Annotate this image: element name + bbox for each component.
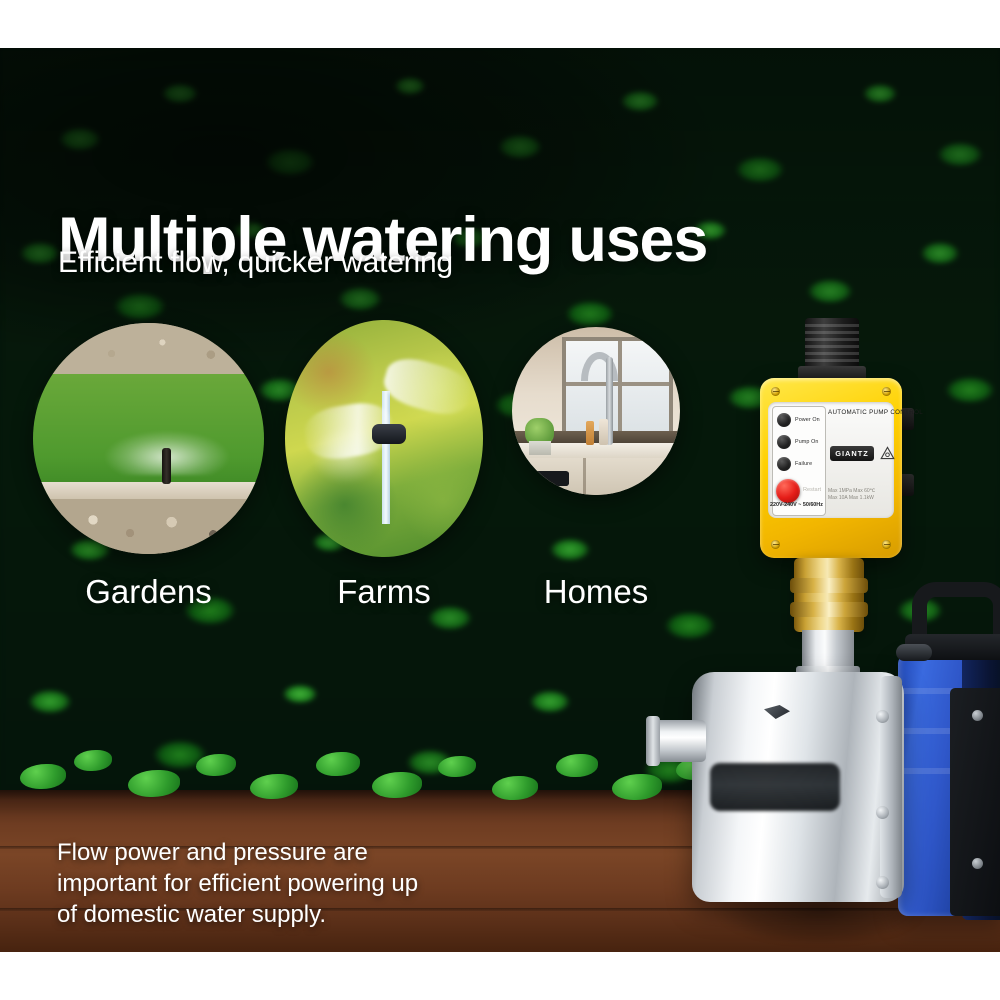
brass-ring-upper [790,578,868,593]
spec-line-1: Max 1MPa Max 60℃ [828,488,875,495]
voltage-rating: 220V-240V ~ 50/60Hz [770,502,823,508]
flange-bolt-bottom [876,876,889,889]
volute-dark-band [710,763,840,811]
controller-faceplate: AUTOMATIC PUMP CONTROL Power On Pump On … [768,402,894,518]
product-description: Flow power and pressure are important fo… [57,837,418,930]
outlet-thread-fitting [805,318,859,372]
motor-end-cap [950,688,1000,916]
description-line-2: important for efficient powering up [57,868,418,899]
pump-on-led [777,435,791,449]
certification-mark-icon [880,446,895,460]
bottom-margin [0,952,1000,1000]
description-line-3: of domestic water supply. [57,899,418,930]
description-line-1: Flow power and pressure are [57,837,418,868]
led-indicator-panel: Power On Pump On Failure Restart [772,406,826,516]
water-pump-product: AUTOMATIC PUMP CONTROL Power On Pump On … [650,258,1000,952]
power-on-label: Power On [795,417,820,423]
photo-area: Multiple watering uses Efficient flow, q… [0,48,1000,952]
flange-bolt-mid [876,806,889,819]
handle-pin [896,644,932,661]
farms-label: Farms [285,573,483,611]
farms-photo [285,320,483,557]
pump-on-label: Pump On [795,439,818,445]
failure-led [777,457,791,471]
flange-bolt-top [876,710,889,723]
brass-ring-lower [790,602,868,617]
gardens-label: Gardens [33,573,264,611]
controller-screw-br [882,540,891,549]
end-cap-screw-top [972,710,983,721]
pump-controller-box: AUTOMATIC PUMP CONTROL Power On Pump On … [760,378,902,558]
restart-label: Restart [803,487,821,493]
power-on-led [777,413,791,427]
controller-specs: Max 1MPa Max 60℃ Max 10A Max 1.1kW [828,488,875,502]
end-cap-screw-bottom [972,858,983,869]
spec-line-2: Max 10A Max 1.1kW [828,495,875,502]
brand-name: GIANTZ [835,449,869,458]
failure-label: Failure [795,461,812,467]
product-marketing-image: Multiple watering uses Efficient flow, q… [0,0,1000,1000]
brass-union-fitting [794,558,864,632]
controller-screw-tl [771,387,780,396]
restart-button[interactable] [776,479,800,503]
controller-screw-tr [882,387,891,396]
controller-screw-bl [771,540,780,549]
brand-badge: GIANTZ [830,446,874,461]
gardens-photo [33,323,264,554]
top-margin [0,0,1000,48]
inlet-lip [646,716,660,766]
controller-title: AUTOMATIC PUMP CONTROL [828,409,923,416]
